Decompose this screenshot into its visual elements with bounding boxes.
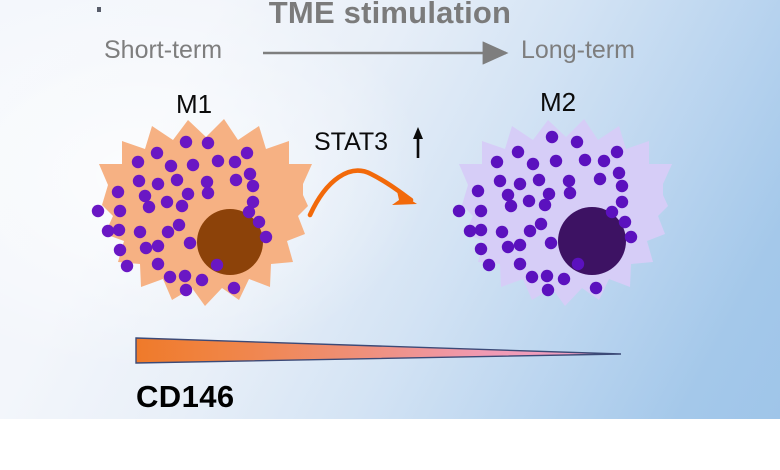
- m1-nucleus: [197, 209, 263, 275]
- stat3-label: STAT3: [314, 128, 388, 157]
- diagram-artwork: [0, 0, 780, 470]
- m2-cell: [453, 119, 672, 306]
- figure-title: TME stimulation: [0, 0, 780, 31]
- figure-canvas: TME stimulation Short-term Long-term M1 …: [0, 0, 780, 470]
- timeline-right-label: Long-term: [521, 36, 635, 65]
- stat3-transition-arrow-icon: [310, 171, 417, 215]
- m1-cell: [92, 119, 312, 306]
- m1-cell-label: M1: [176, 89, 212, 120]
- cd146-label: CD146: [136, 379, 235, 415]
- image-speck-artifact: [97, 7, 101, 12]
- m2-nucleus: [558, 207, 626, 275]
- m2-cell-label: M2: [540, 87, 576, 118]
- cd146-gradient-wedge: [136, 338, 621, 363]
- stat3-up-arrow-icon: [413, 127, 423, 158]
- timeline-left-label: Short-term: [104, 36, 222, 65]
